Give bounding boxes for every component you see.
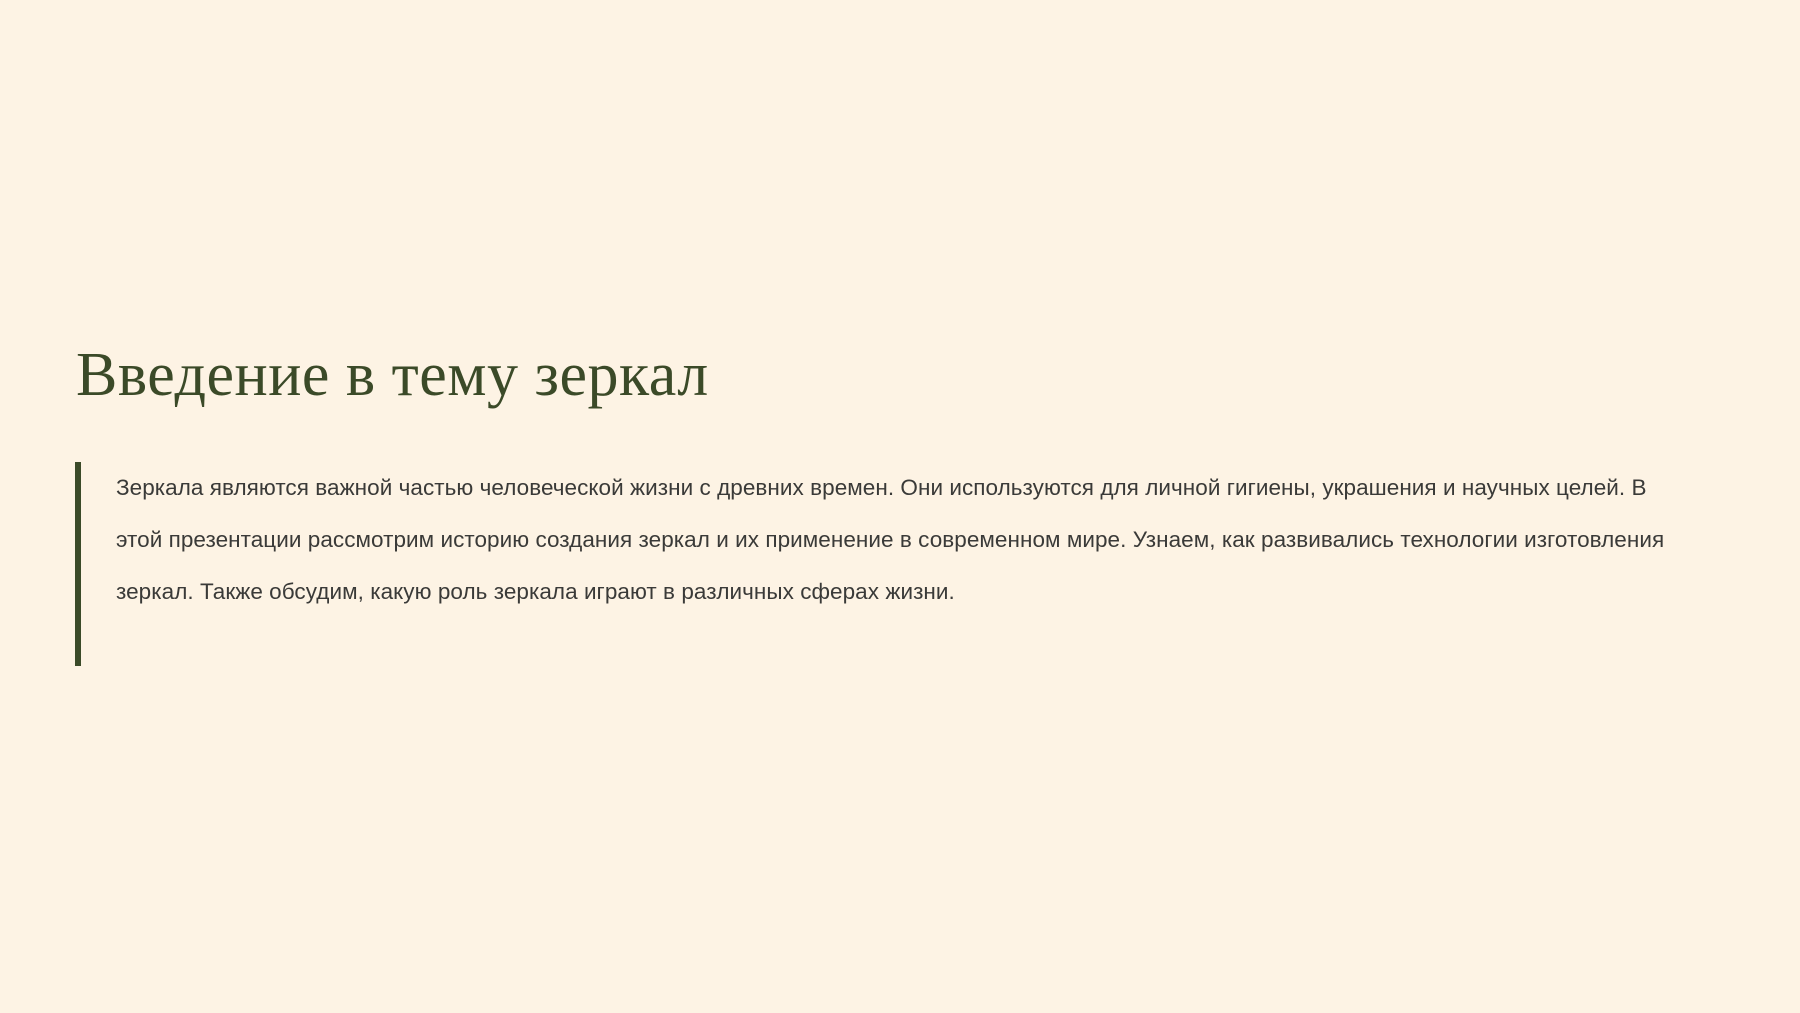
accent-bar <box>75 462 81 666</box>
page-title: Введение в тему зеркал <box>76 342 1716 409</box>
body-paragraph: Зеркала являются важной частью человечес… <box>75 462 1675 618</box>
body-quote-block: Зеркала являются важной частью человечес… <box>75 462 1735 618</box>
presentation-slide: Введение в тему зеркал Зеркала являются … <box>0 0 1800 1013</box>
